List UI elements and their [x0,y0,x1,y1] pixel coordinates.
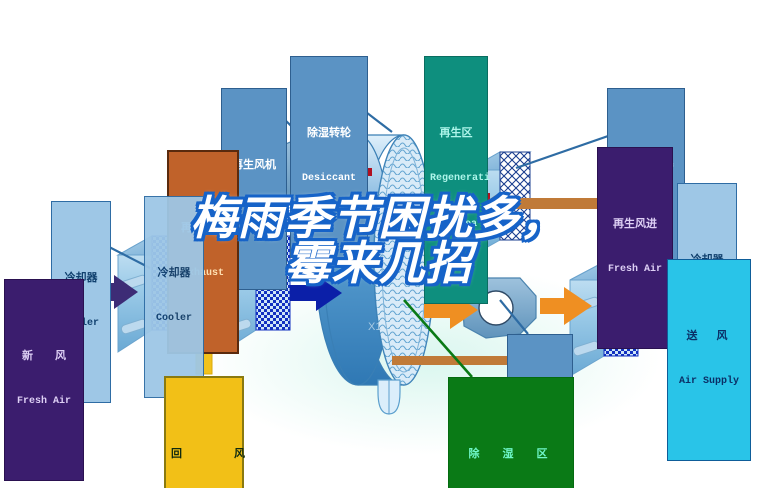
diagram-canvas: X1 [0,0,757,488]
label-air-supply: 送 风 Air Supply [667,259,751,461]
label-back-wind: 回 风 Back wind [164,376,244,488]
label-fresh-air-inlet: 新 风 Fresh Air [4,279,84,481]
overlay-title-line2: 霉来几招 [0,241,757,286]
label-dehumid-district: 除 湿 区 Dehumidification District [448,377,574,488]
overlay-title: 梅雨季节困扰多， 霉来几招 [0,196,757,286]
